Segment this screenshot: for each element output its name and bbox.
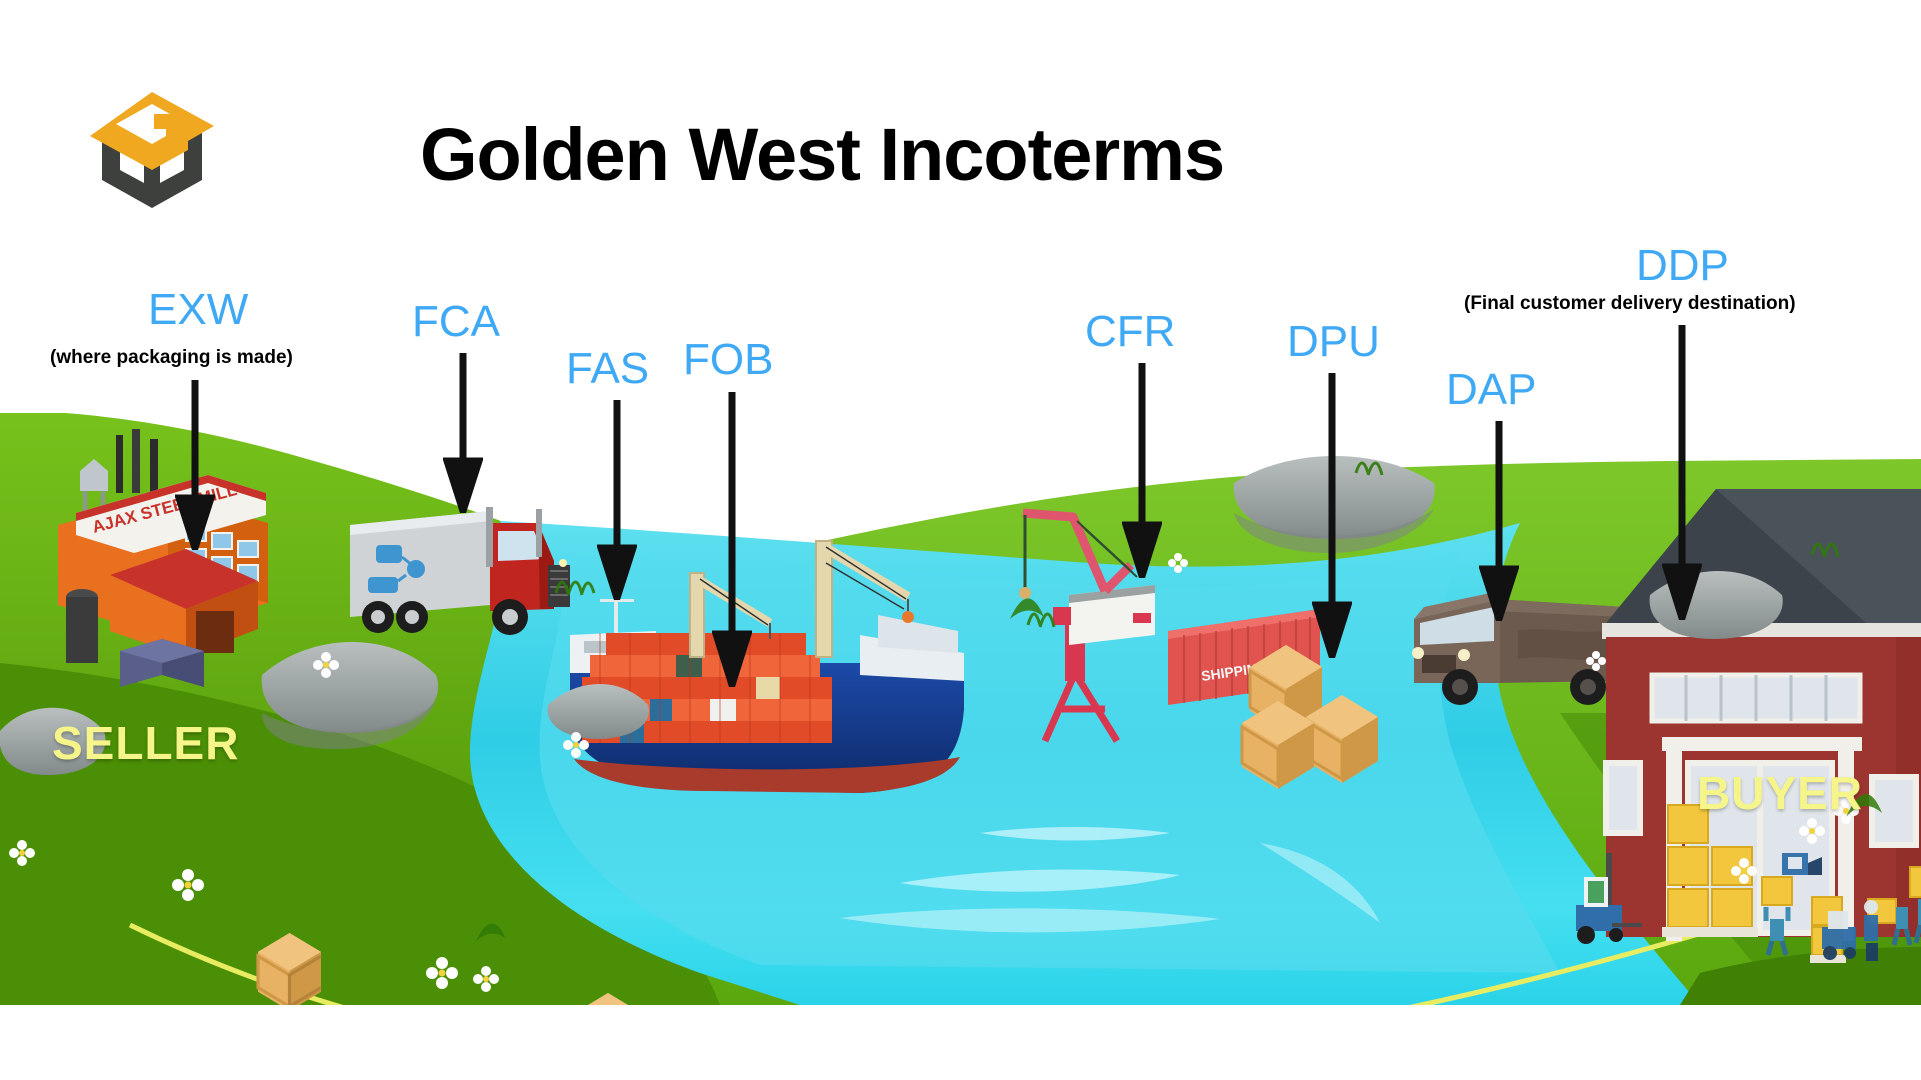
term-label-fca: FCA	[412, 300, 500, 344]
term-label-dap: DAP	[1446, 368, 1536, 412]
arrow-dap	[1479, 421, 1519, 621]
term-label-cfr: CFR	[1085, 310, 1175, 354]
term-label-ddp: DDP	[1636, 244, 1729, 288]
arrow-dpu	[1312, 373, 1352, 658]
arrow-ddp	[1662, 325, 1702, 620]
term-caption-ddp: (Final customer delivery destination)	[1464, 294, 1796, 313]
seller-label: SELLER	[52, 716, 239, 770]
term-caption-exw: (where packaging is made)	[50, 348, 293, 367]
page-title: Golden West Incoterms	[420, 118, 1520, 192]
arrow-cfr	[1122, 363, 1162, 578]
arrow-fas	[597, 400, 637, 600]
term-label-fob: FOB	[683, 338, 773, 382]
arrow-exw	[175, 380, 215, 550]
term-label-dpu: DPU	[1287, 320, 1380, 364]
buyer-label: BUYER	[1697, 766, 1863, 820]
arrow-fca	[443, 353, 483, 513]
incoterms-scene-illustration: AJAX STEEL MILL	[0, 413, 1921, 1005]
term-label-exw: EXW	[148, 288, 248, 332]
arrow-fob	[712, 392, 752, 687]
golden-west-cube-logo	[88, 88, 216, 212]
term-label-fas: FAS	[566, 347, 649, 391]
